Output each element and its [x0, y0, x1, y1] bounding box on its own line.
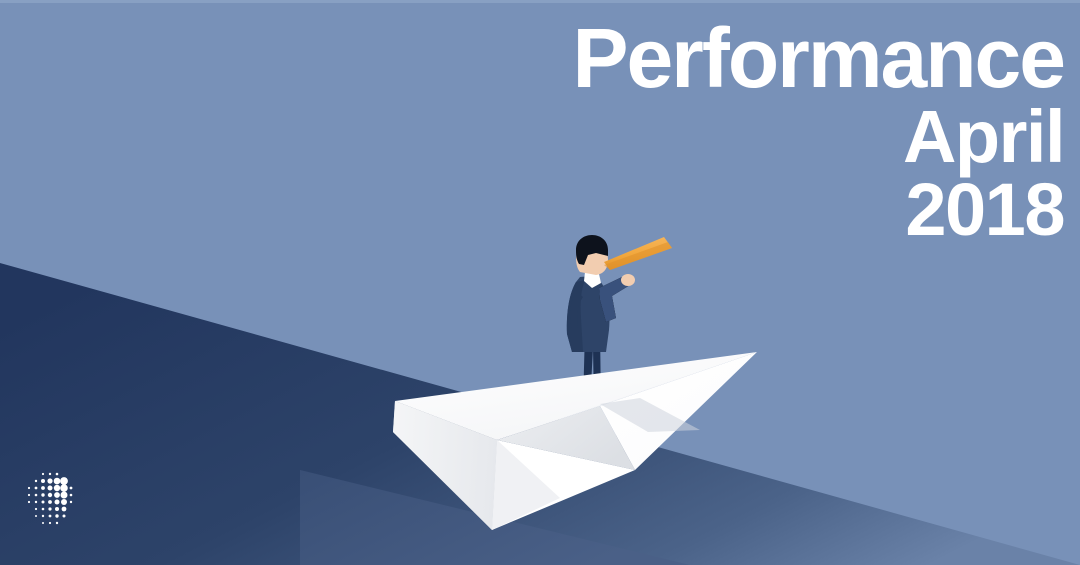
illustration-artwork: [0, 0, 1080, 565]
figure-hand: [621, 274, 635, 286]
background-top-highlight: [0, 0, 1080, 3]
poster-canvas: Performance April 2018: [0, 0, 1080, 565]
